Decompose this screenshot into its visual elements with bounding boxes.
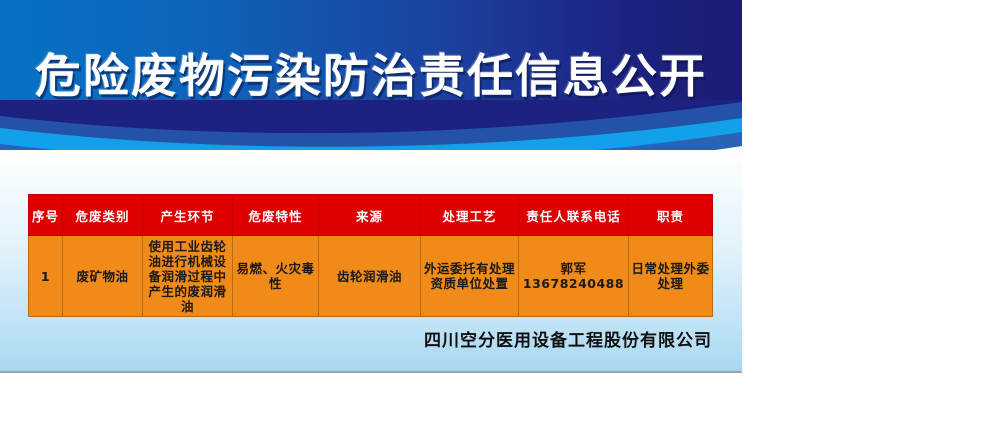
information-board: 危险废物污染防治责任信息公开 序号 危废类别 产生环节 危废特性 来源 处理工艺… [0,0,742,373]
column-header-property: 危废特性 [233,195,319,236]
cell-duty: 日常处理外委处理 [629,236,713,317]
column-header-index: 序号 [29,195,63,236]
column-header-duty: 职责 [629,195,713,236]
cell-stage: 使用工业齿轮油进行机械设备润滑过程中产生的废润滑油 [143,236,233,317]
responsible-person-phone: 13678240488 [521,276,626,291]
hazardous-waste-table: 序号 危废类别 产生环节 危废特性 来源 处理工艺 责任人联系电话 职责 1 废… [28,194,713,317]
cell-treatment: 外运委托有处理资质单位处置 [421,236,519,317]
column-header-treatment: 处理工艺 [421,195,519,236]
cell-category: 废矿物油 [63,236,143,317]
responsible-person-name: 郭军 [521,261,626,276]
company-name: 四川空分医用设备工程股份有限公司 [0,326,712,351]
banner-header: 危险废物污染防治责任信息公开 [0,0,742,160]
column-header-source: 来源 [319,195,421,236]
column-header-stage: 产生环节 [143,195,233,236]
cell-source: 齿轮润滑油 [319,236,421,317]
page-title: 危险废物污染防治责任信息公开 [0,46,742,106]
cell-property: 易燃、火灾毒性 [233,236,319,317]
table-row: 1 废矿物油 使用工业齿轮油进行机械设备润滑过程中产生的废润滑油 易燃、火灾毒性… [29,236,713,317]
column-header-contact: 责任人联系电话 [519,195,629,236]
table-header-row: 序号 危废类别 产生环节 危废特性 来源 处理工艺 责任人联系电话 职责 [29,195,713,236]
column-header-category: 危废类别 [63,195,143,236]
cell-index: 1 [29,236,63,317]
cell-contact: 郭军 13678240488 [519,236,629,317]
